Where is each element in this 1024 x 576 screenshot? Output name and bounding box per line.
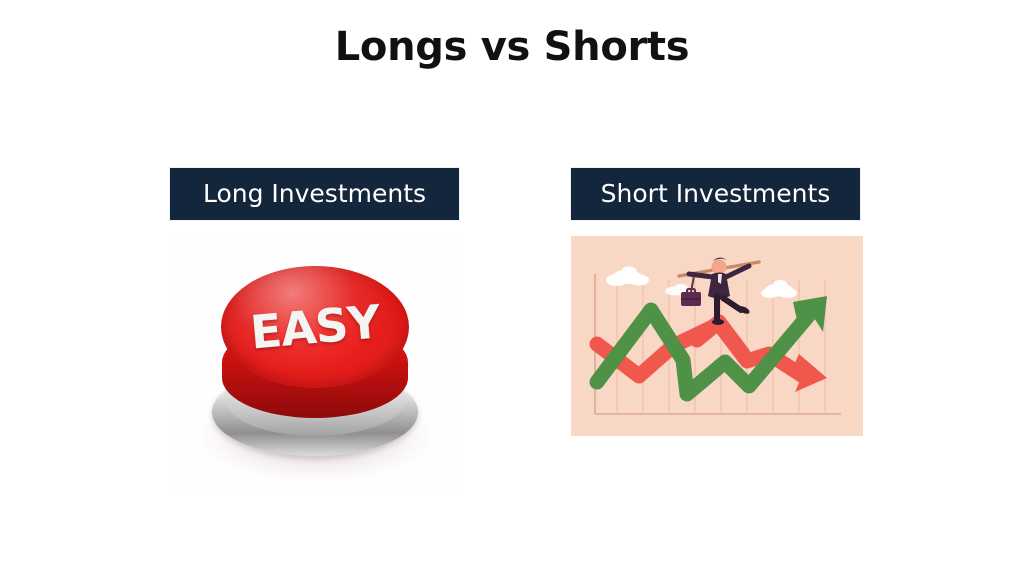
short-investments-header: Short Investments [571, 168, 860, 220]
short-investments-media [571, 236, 860, 436]
volatile-arrows-chart-svg [571, 236, 863, 436]
button-red-top [221, 266, 409, 388]
long-investments-media: EASY [170, 236, 459, 492]
column-short-investments: Short Investments [571, 168, 860, 436]
tightrope-walker-illustration [571, 236, 863, 436]
figure-head [712, 260, 727, 275]
page-title: Longs vs Shorts [0, 24, 1024, 70]
figure-shoe [712, 319, 724, 325]
column-long-investments: Long Investments EASY [170, 168, 459, 492]
red-easy-button-image: EASY [170, 236, 459, 492]
long-investments-header: Long Investments [170, 168, 459, 220]
figure-left-arm [689, 274, 713, 277]
